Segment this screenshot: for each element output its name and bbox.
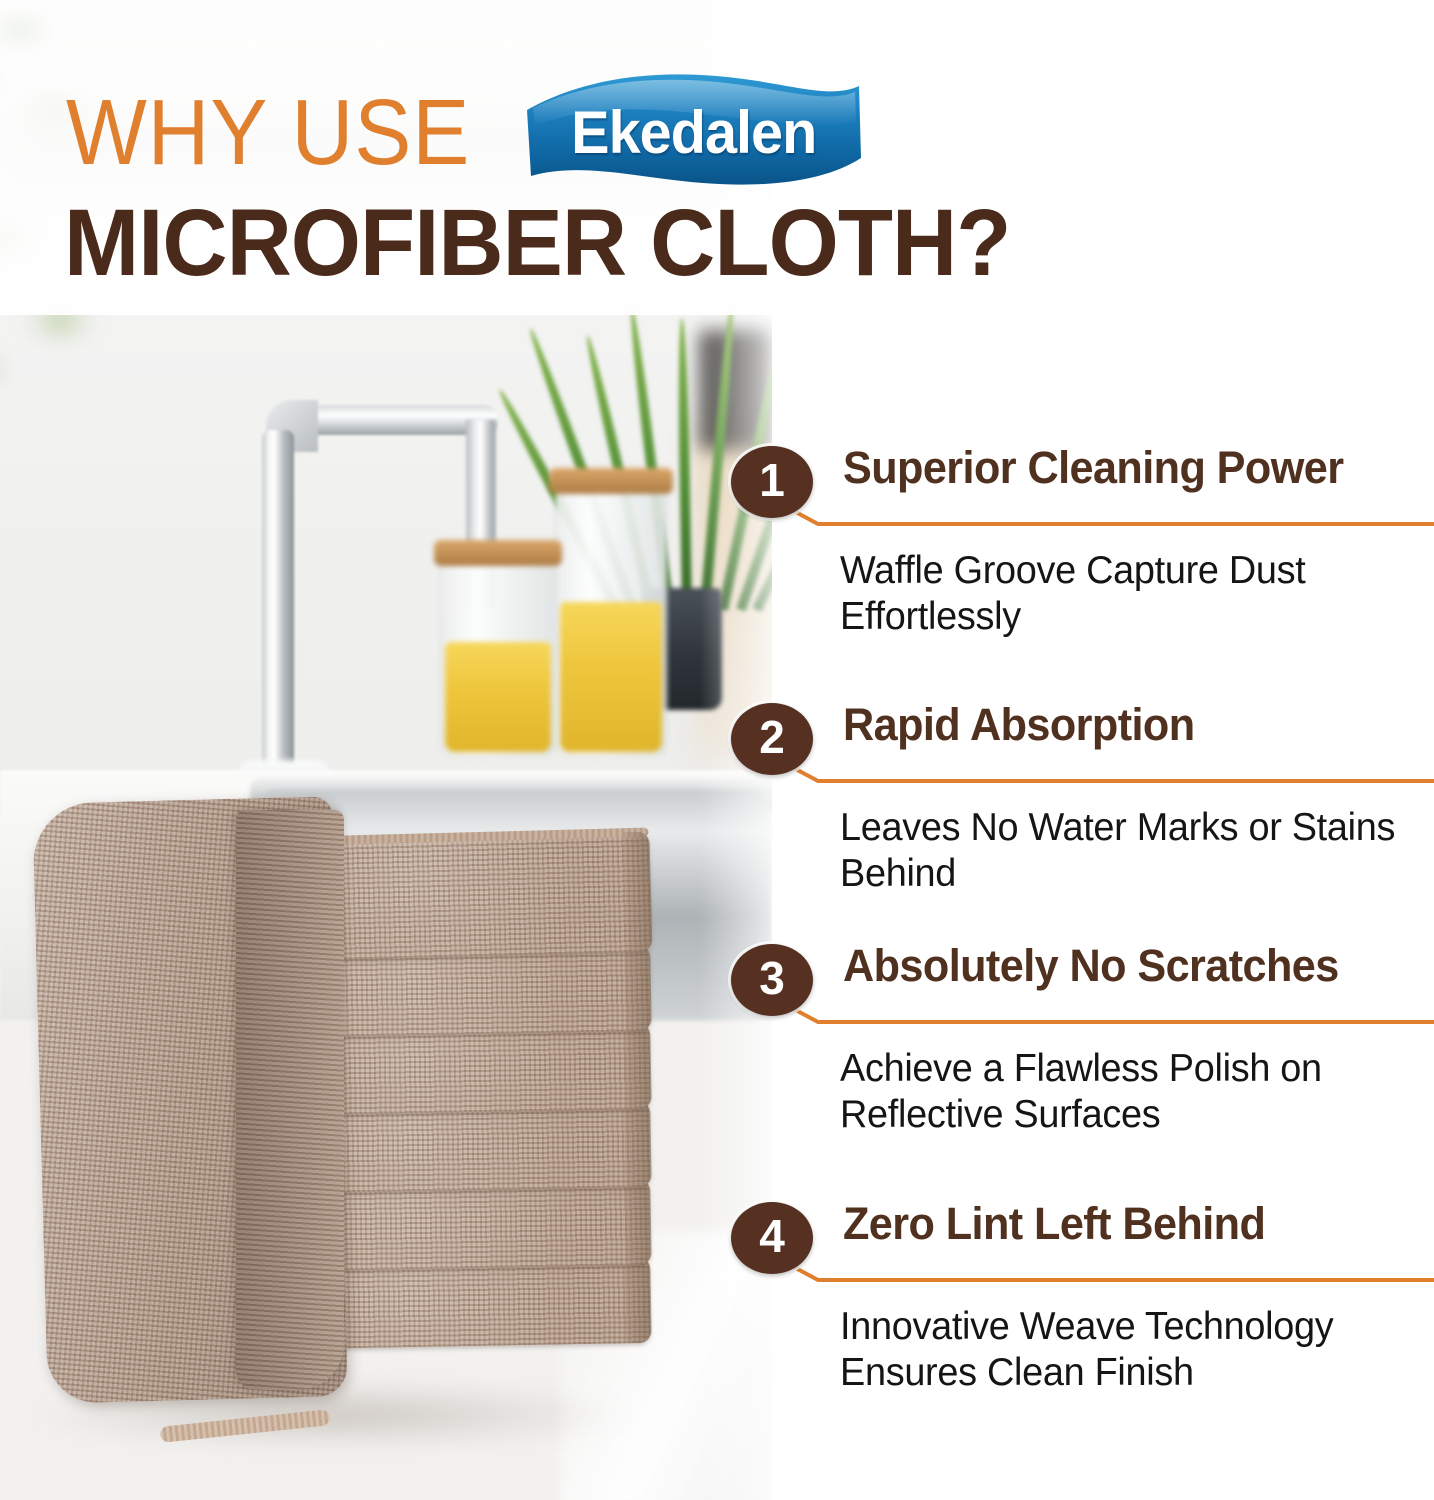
brand-logo-text: Ekedalen: [571, 98, 816, 167]
feature-connector-line-3: [760, 990, 1434, 1030]
infographic-canvas: WHY USE: [0, 0, 1434, 1500]
feature-connector-line-4: [760, 1248, 1434, 1288]
feature-description-2: Leaves No Water Marks or Stains Behind: [840, 805, 1416, 897]
feature-title-1: Superior Cleaning Power: [843, 444, 1407, 491]
headline-why-use: WHY USE: [66, 86, 470, 179]
feature-number-1: 1: [759, 457, 785, 503]
feature-number-2: 2: [759, 714, 785, 760]
feature-connector-line-2: [760, 749, 1434, 789]
feature-number-4: 4: [759, 1213, 785, 1259]
feature-description-1: Waffle Groove Capture Dust Effortlessly: [840, 548, 1416, 640]
feature-title-2: Rapid Absorption: [843, 701, 1407, 748]
feature-number-3: 3: [759, 955, 785, 1001]
header: WHY USE: [0, 0, 1434, 315]
headline-row: WHY USE: [66, 72, 866, 192]
feature-number-badge-4: 4: [731, 1202, 813, 1274]
feature-title-3: Absolutely No Scratches: [843, 942, 1407, 989]
feature-number-badge-1: 1: [731, 446, 813, 518]
brand-logo: Ekedalen: [521, 72, 866, 192]
feature-title-4: Zero Lint Left Behind: [843, 1200, 1407, 1247]
feature-number-badge-3: 3: [731, 944, 813, 1016]
feature-number-badge-2: 2: [731, 703, 813, 775]
feature-description-4: Innovative Weave Technology Ensures Clea…: [840, 1304, 1416, 1396]
headline-microfiber-cloth: MICROFIBER CLOTH?: [64, 196, 1010, 291]
feature-description-3: Achieve a Flawless Polish on Reflective …: [840, 1046, 1416, 1138]
feature-connector-line-1: [760, 492, 1434, 532]
